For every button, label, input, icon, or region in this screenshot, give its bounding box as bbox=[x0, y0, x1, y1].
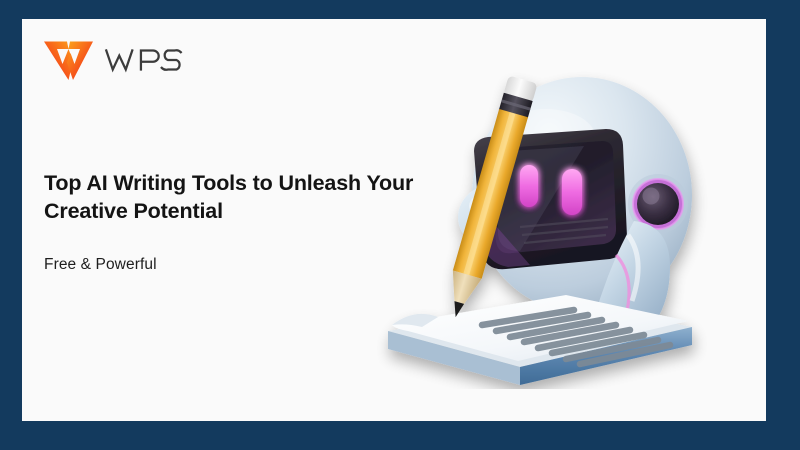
wps-logo[interactable] bbox=[42, 38, 216, 82]
ai-robot-writing-illustration bbox=[370, 69, 766, 389]
wps-w-mark-icon bbox=[42, 38, 95, 82]
page-title: Top AI Writing Tools to Unleash Your Cre… bbox=[44, 169, 419, 226]
wps-wordmark bbox=[104, 47, 216, 73]
banner-card: Top AI Writing Tools to Unleash Your Cre… bbox=[22, 19, 766, 421]
banner-root: Top AI Writing Tools to Unleash Your Cre… bbox=[0, 0, 800, 450]
